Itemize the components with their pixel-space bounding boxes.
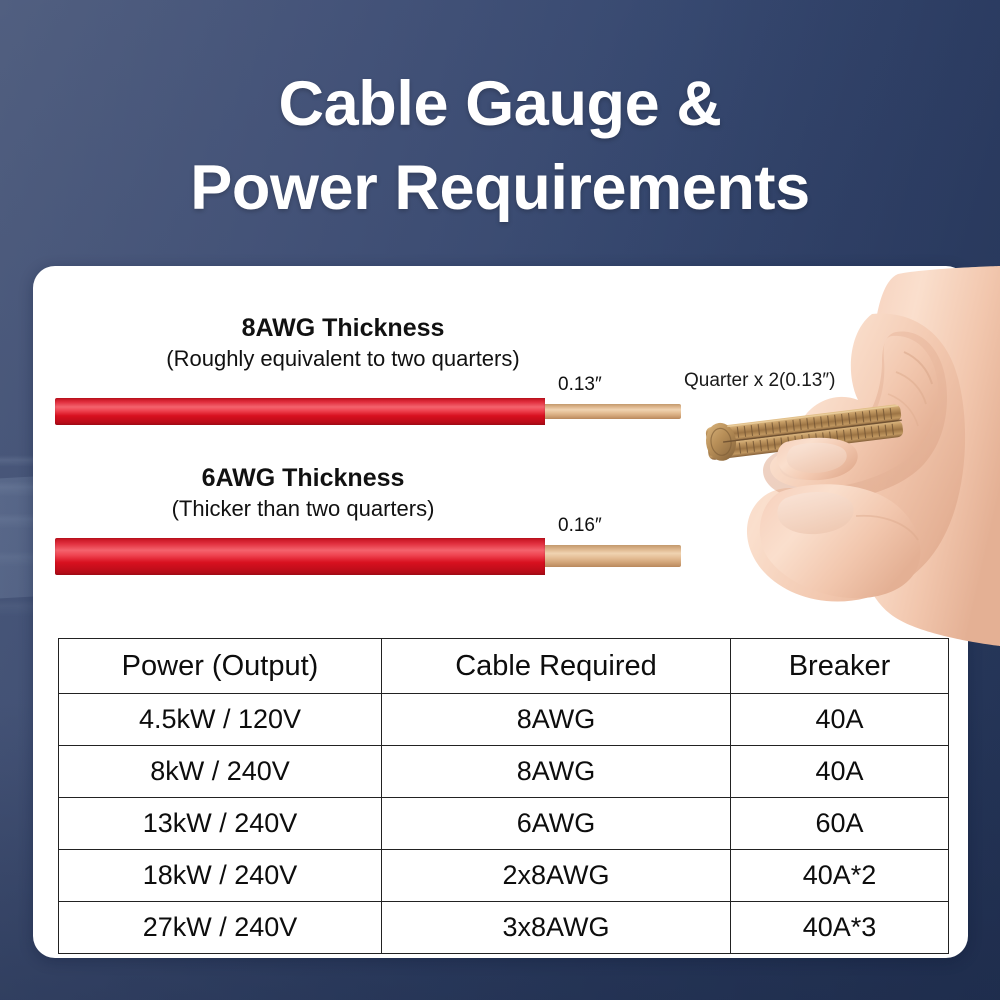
wire-subtitle-8awg: (Roughly equivalent to two quarters) xyxy=(33,346,653,372)
table-header-cable: Cable Required xyxy=(382,639,731,694)
wire-heading-6awg: 6AWG Thickness xyxy=(33,464,573,493)
page-title: Cable Gauge & Power Requirements xyxy=(0,62,1000,230)
table-row: 27kW / 240V 3x8AWG 40A*3 xyxy=(59,902,949,954)
table-row: 13kW / 240V 6AWG 60A xyxy=(59,798,949,850)
wire-diameter-label-6awg: 0.16″ xyxy=(558,515,602,537)
cell-breaker: 40A xyxy=(731,746,949,798)
wire-insulation-8awg xyxy=(55,398,545,425)
wire-diameter-label-8awg: 0.13″ xyxy=(558,374,602,396)
cell-power: 13kW / 240V xyxy=(59,798,382,850)
coin-caption-label: Quarter x 2(0.13″) xyxy=(684,370,835,392)
cell-breaker: 40A xyxy=(731,694,949,746)
cell-power: 27kW / 240V xyxy=(59,902,382,954)
wire-conductor-8awg xyxy=(545,404,681,419)
wire-insulation-6awg xyxy=(55,538,545,575)
wire-block-8awg: 8AWG Thickness (Roughly equivalent to tw… xyxy=(33,314,968,372)
page-title-line-2: Power Requirements xyxy=(0,146,1000,230)
table-row: 18kW / 240V 2x8AWG 40A*2 xyxy=(59,850,949,902)
table-header-breaker: Breaker xyxy=(731,639,949,694)
wire-conductor-6awg xyxy=(545,545,681,567)
table-header-power: Power (Output) xyxy=(59,639,382,694)
cell-power: 4.5kW / 120V xyxy=(59,694,382,746)
cell-power: 18kW / 240V xyxy=(59,850,382,902)
wire-heading-8awg: 8AWG Thickness xyxy=(33,314,653,343)
cell-breaker: 40A*3 xyxy=(731,902,949,954)
cell-cable: 2x8AWG xyxy=(382,850,731,902)
spec-table: Power (Output) Cable Required Breaker 4.… xyxy=(58,638,949,954)
cell-cable: 8AWG xyxy=(382,746,731,798)
cell-breaker: 40A*2 xyxy=(731,850,949,902)
wire-block-6awg: 6AWG Thickness (Thicker than two quarter… xyxy=(33,464,968,522)
table-header-row: Power (Output) Cable Required Breaker xyxy=(59,639,949,694)
page-title-line-1: Cable Gauge & xyxy=(0,62,1000,146)
wire-subtitle-6awg: (Thicker than two quarters) xyxy=(33,496,573,522)
table-row: 8kW / 240V 8AWG 40A xyxy=(59,746,949,798)
cell-cable: 6AWG xyxy=(382,798,731,850)
cell-breaker: 60A xyxy=(731,798,949,850)
cell-power: 8kW / 240V xyxy=(59,746,382,798)
cell-cable: 3x8AWG xyxy=(382,902,731,954)
table-row: 4.5kW / 120V 8AWG 40A xyxy=(59,694,949,746)
cell-cable: 8AWG xyxy=(382,694,731,746)
